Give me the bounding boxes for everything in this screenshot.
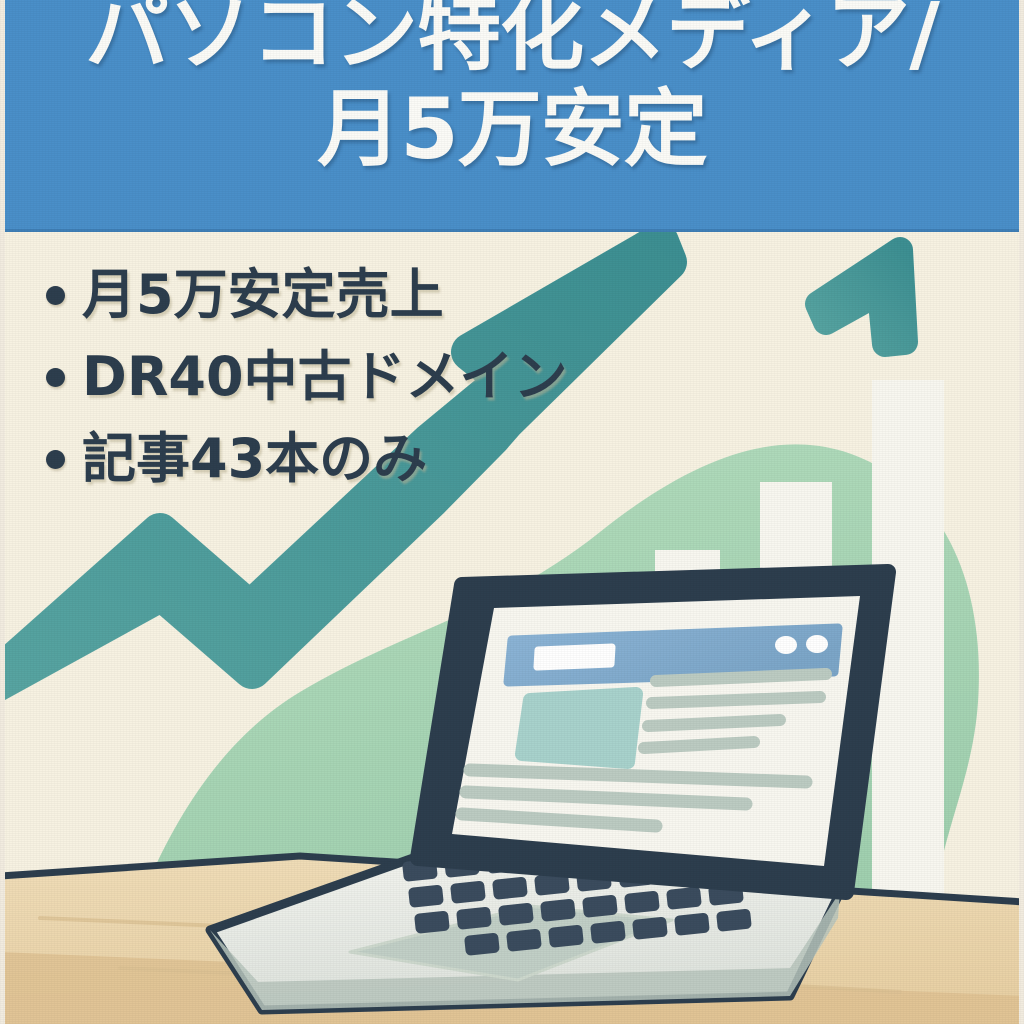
bullet-dot-icon bbox=[46, 450, 65, 469]
bar-1 bbox=[655, 550, 720, 880]
green-blob-shape bbox=[100, 444, 979, 1024]
bullet-label: 記事43本のみ bbox=[82, 432, 427, 486]
list-item: 月5万安定売上 bbox=[46, 268, 568, 322]
header-bottom-rule bbox=[0, 229, 1024, 232]
bullet-dot-icon bbox=[46, 286, 65, 305]
bullet-label: DR40中古ドメイン bbox=[82, 350, 568, 404]
feature-bullet-list: 月5万安定売上 DR40中古ドメイン 記事43本のみ bbox=[46, 268, 568, 514]
list-item: DR40中古ドメイン bbox=[46, 350, 568, 404]
header-title-line-2: 月5万安定 bbox=[317, 88, 706, 170]
bar-2 bbox=[760, 482, 832, 880]
bullet-dot-icon bbox=[46, 368, 65, 387]
poster-canvas: パソコン特化メディア/ 月5万安定 月5万安定売上 DR40中古ドメイン 記事4… bbox=[0, 0, 1024, 1024]
list-item: 記事43本のみ bbox=[46, 432, 568, 486]
bullet-label: 月5万安定売上 bbox=[82, 268, 444, 322]
header-title-line-1: パソコン特化メディア/ bbox=[85, 0, 939, 74]
header-banner: パソコン特化メディア/ 月5万安定 bbox=[0, 0, 1024, 232]
bar-3 bbox=[872, 380, 944, 1024]
